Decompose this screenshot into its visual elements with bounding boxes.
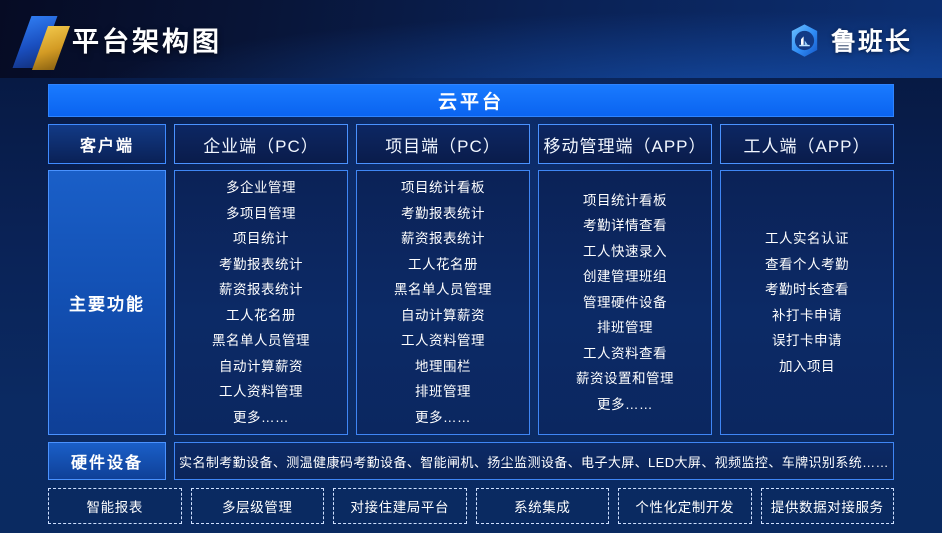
list-item: 考勤报表统计 bbox=[401, 201, 485, 227]
cloud-platform-banner: 云平台 bbox=[48, 84, 894, 117]
list-item: 项目统计看板 bbox=[583, 188, 667, 214]
service-tag-system-integration[interactable]: 系统集成 bbox=[476, 488, 610, 524]
list-item: 地理围栏 bbox=[415, 354, 471, 380]
list-item: 管理硬件设备 bbox=[583, 290, 667, 316]
list-item: 排班管理 bbox=[415, 379, 471, 405]
list-item-more[interactable]: 更多…… bbox=[233, 405, 289, 431]
service-tag-custom-dev[interactable]: 个性化定制开发 bbox=[618, 488, 752, 524]
hardware-label: 硬件设备 bbox=[48, 442, 166, 480]
main-function-label: 主要功能 bbox=[48, 170, 166, 435]
list-item: 工人快速录入 bbox=[583, 239, 667, 265]
list-item: 自动计算薪资 bbox=[401, 303, 485, 329]
column-head-label: 工人端（APP） bbox=[720, 124, 894, 164]
list-item: 误打卡申请 bbox=[772, 328, 842, 354]
column-head-mobile[interactable]: 移动管理端（APP） bbox=[538, 124, 712, 164]
architecture-grid: 云平台 客户端 企业端（PC） 项目端（PC） 移动管理端（APP） 工人端（A… bbox=[48, 84, 894, 524]
diagram-stage: 云平台 客户端 企业端（PC） 项目端（PC） 移动管理端（APP） 工人端（A… bbox=[0, 78, 942, 533]
hardware-row: 硬件设备 实名制考勤设备、测温健康码考勤设备、智能闸机、扬尘监测设备、电子大屏、… bbox=[48, 442, 894, 480]
client-header-row: 客户端 企业端（PC） 项目端（PC） 移动管理端（APP） 工人端（APP） bbox=[48, 124, 894, 164]
service-tag-multi-level[interactable]: 多层级管理 bbox=[191, 488, 325, 524]
service-tag-data-service[interactable]: 提供数据对接服务 bbox=[761, 488, 895, 524]
client-label: 客户端 bbox=[48, 124, 166, 164]
list-item: 考勤时长查看 bbox=[765, 277, 849, 303]
slanted-bars-logo-icon bbox=[18, 16, 70, 68]
function-list-worker: 工人实名认证 查看个人考勤 考勤时长查看 补打卡申请 误打卡申请 加入项目 bbox=[720, 170, 894, 435]
function-list-project: 项目统计看板 考勤报表统计 薪资报表统计 工人花名册 黑名单人员管理 自动计算薪… bbox=[356, 170, 530, 435]
list-item: 工人花名册 bbox=[408, 252, 478, 278]
service-tag-gov-platform[interactable]: 对接住建局平台 bbox=[333, 488, 467, 524]
list-item: 黑名单人员管理 bbox=[212, 328, 310, 354]
list-item: 项目统计看板 bbox=[401, 175, 485, 201]
list-item: 工人资料查看 bbox=[583, 341, 667, 367]
list-item: 薪资设置和管理 bbox=[576, 366, 674, 392]
list-item: 多企业管理 bbox=[226, 175, 296, 201]
brand: 鲁班长 bbox=[787, 22, 912, 58]
list-item: 自动计算薪资 bbox=[219, 354, 303, 380]
list-item: 工人资料管理 bbox=[219, 379, 303, 405]
column-head-project[interactable]: 项目端（PC） bbox=[356, 124, 530, 164]
list-item: 补打卡申请 bbox=[772, 303, 842, 329]
list-item: 薪资报表统计 bbox=[219, 277, 303, 303]
page-title: 平台架构图 bbox=[72, 20, 222, 59]
list-item: 工人实名认证 bbox=[765, 226, 849, 252]
client-label-cell: 客户端 bbox=[48, 124, 166, 164]
main-function-row: 主要功能 多企业管理 多项目管理 项目统计 考勤报表统计 薪资报表统计 工人花名… bbox=[48, 170, 894, 435]
page-header: 平台架构图 鲁班长 bbox=[0, 0, 942, 78]
column-heads: 企业端（PC） 项目端（PC） 移动管理端（APP） 工人端（APP） bbox=[174, 124, 894, 164]
list-item: 考勤详情查看 bbox=[583, 213, 667, 239]
function-list-mobile: 项目统计看板 考勤详情查看 工人快速录入 创建管理班组 管理硬件设备 排班管理 … bbox=[538, 170, 712, 435]
column-head-enterprise[interactable]: 企业端（PC） bbox=[174, 124, 348, 164]
list-item: 多项目管理 bbox=[226, 201, 296, 227]
list-item: 加入项目 bbox=[779, 354, 835, 380]
column-head-label: 项目端（PC） bbox=[356, 124, 530, 164]
column-head-worker[interactable]: 工人端（APP） bbox=[720, 124, 894, 164]
brand-name: 鲁班长 bbox=[831, 22, 912, 58]
list-item: 项目统计 bbox=[233, 226, 289, 252]
list-item: 排班管理 bbox=[597, 315, 653, 341]
hardware-device-list: 实名制考勤设备、测温健康码考勤设备、智能闸机、扬尘监测设备、电子大屏、LED大屏… bbox=[174, 442, 894, 480]
list-item-more[interactable]: 更多…… bbox=[415, 405, 471, 431]
list-item: 工人花名册 bbox=[226, 303, 296, 329]
column-head-label: 移动管理端（APP） bbox=[538, 124, 712, 164]
list-item: 考勤报表统计 bbox=[219, 252, 303, 278]
service-tag-smart-report[interactable]: 智能报表 bbox=[48, 488, 182, 524]
list-item: 薪资报表统计 bbox=[401, 226, 485, 252]
column-head-label: 企业端（PC） bbox=[174, 124, 348, 164]
list-item: 创建管理班组 bbox=[583, 264, 667, 290]
list-item: 查看个人考勤 bbox=[765, 252, 849, 278]
function-list-enterprise: 多企业管理 多项目管理 项目统计 考勤报表统计 薪资报表统计 工人花名册 黑名单… bbox=[174, 170, 348, 435]
list-item: 工人资料管理 bbox=[401, 328, 485, 354]
service-tag-row: 智能报表 多层级管理 对接住建局平台 系统集成 个性化定制开发 提供数据对接服务 bbox=[48, 488, 894, 524]
hexagon-building-icon bbox=[787, 23, 822, 58]
list-item-more[interactable]: 更多…… bbox=[597, 392, 653, 418]
list-item: 黑名单人员管理 bbox=[394, 277, 492, 303]
